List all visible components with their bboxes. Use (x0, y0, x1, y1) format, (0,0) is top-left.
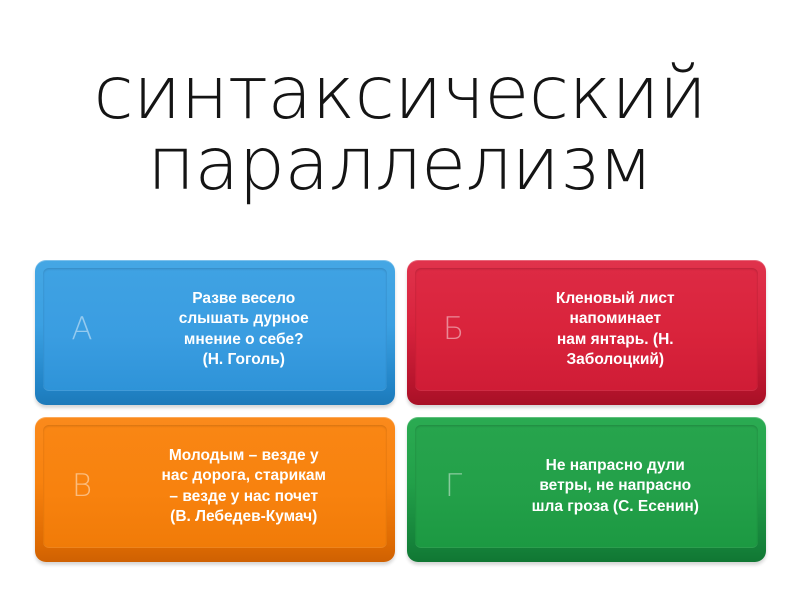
answer-card-g[interactable]: Г Не напрасно дули ветры, не напрасно шл… (407, 417, 767, 562)
answer-text-b: Кленовый лист напоминает нам янтарь. (Н.… (487, 289, 749, 371)
answer-card-a-inner: А Разве весело слышать дурное мнение о с… (43, 268, 387, 391)
page-title: синтаксический параллелизм (93, 59, 706, 201)
quiz-container: синтаксический параллелизм А Разве весел… (0, 0, 800, 600)
answer-letter-b: Б (421, 314, 487, 345)
answer-card-v-inner: В Молодым – везде у нас дорога, старикам… (43, 425, 387, 548)
answer-options-grid: А Разве весело слышать дурное мнение о с… (0, 260, 800, 600)
answer-card-b[interactable]: Б Кленовый лист напоминает нам янтарь. (… (407, 260, 767, 405)
title-area: синтаксический параллелизм (0, 0, 800, 260)
answer-card-v[interactable]: В Молодым – везде у нас дорога, старикам… (35, 417, 395, 562)
answer-card-a[interactable]: А Разве весело слышать дурное мнение о с… (35, 260, 395, 405)
answer-letter-g: Г (421, 471, 487, 502)
answer-card-g-inner: Г Не напрасно дули ветры, не напрасно шл… (415, 425, 759, 548)
answer-letter-v: В (49, 471, 115, 502)
answer-text-v: Молодым – везде у нас дорога, старикам –… (115, 446, 377, 528)
answer-text-a: Разве весело слышать дурное мнение о себ… (115, 289, 377, 371)
answer-text-g: Не напрасно дули ветры, не напрасно шла … (487, 456, 749, 518)
answer-card-b-inner: Б Кленовый лист напоминает нам янтарь. (… (415, 268, 759, 391)
answer-letter-a: А (49, 314, 115, 345)
